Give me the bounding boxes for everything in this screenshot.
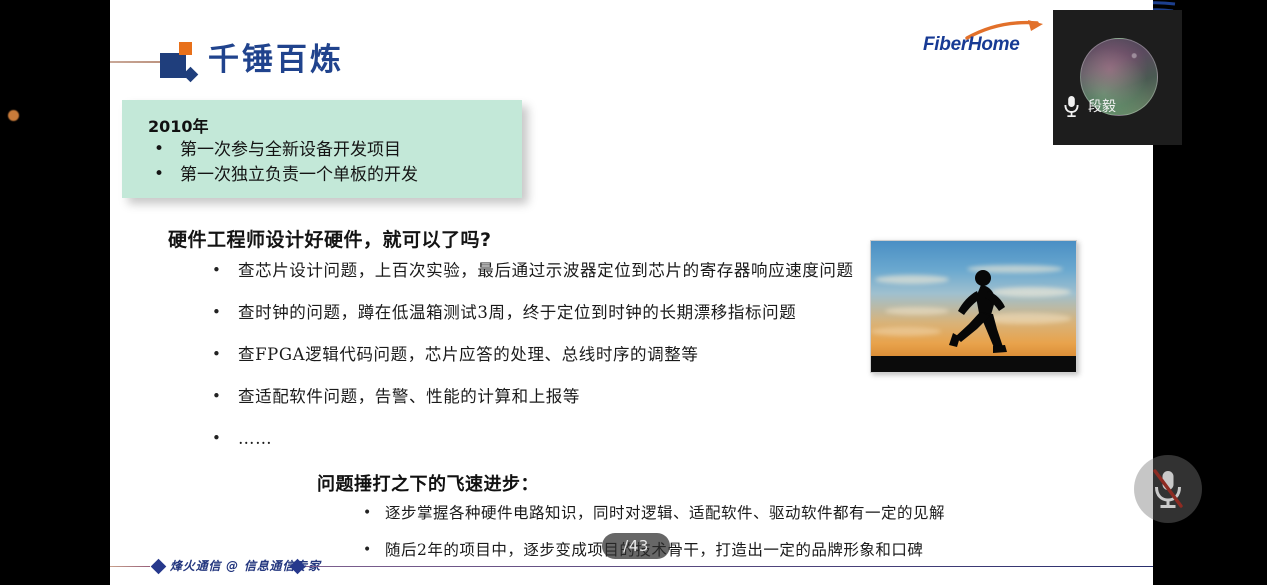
list-item: ……	[206, 424, 936, 453]
fiberhome-logo: FiberHome	[923, 22, 1043, 56]
list-item: 查芯片设计问题，上百次实验，最后通过示波器定位到芯片的寄存器响应速度问题	[206, 256, 936, 285]
microphone-icon	[1063, 95, 1080, 117]
footer-diamond-left-icon	[151, 559, 167, 575]
callout-list: 第一次参与全新设备开发项目 第一次独立负责一个单板的开发	[152, 138, 418, 188]
list-item: 查适配软件问题，告警、性能的计算和上报等	[206, 382, 936, 411]
presentation-slide: 千锤百炼 FiberHome 2010年 第一次参与全新设备开发项目 第一次独立…	[110, 0, 1153, 585]
list-item: 逐步掌握各种硬件电路知识，同时对逻辑、适配软件、驱动软件都有一定的见解	[355, 500, 1145, 527]
page-indicator-badge: /43	[602, 533, 670, 559]
participant-name: 段毅	[1088, 96, 1116, 116]
orange-dot-indicator	[8, 110, 19, 121]
main-bullet-list: 查芯片设计问题，上百次实验，最后通过示波器定位到芯片的寄存器响应速度问题 查时钟…	[206, 256, 936, 466]
body-heading: 硬件工程师设计好硬件，就可以了吗?	[168, 225, 492, 252]
runner-photo	[870, 240, 1077, 373]
mute-toggle-button[interactable]	[1134, 455, 1202, 523]
sub-heading: 问题捶打之下的飞速进步：	[317, 470, 539, 496]
list-item: 查FPGA逻辑代码问题，芯片应答的处理、总线时序的调整等	[206, 340, 936, 369]
meeting-screen-share-view: 千锤百炼 FiberHome 2010年 第一次参与全新设备开发项目 第一次独立…	[0, 0, 1267, 585]
list-item: 第一次独立负责一个单板的开发	[152, 163, 418, 188]
participant-video-tile[interactable]: 段毅	[1053, 10, 1182, 145]
microphone-muted-icon	[1152, 469, 1184, 509]
title-square-mark-icon	[155, 42, 197, 76]
participant-name-bar: 段毅	[1053, 89, 1182, 123]
callout-year: 2010年	[148, 113, 209, 137]
page-title: 千锤百炼	[208, 34, 344, 79]
list-item: 查时钟的问题，蹲在低温箱测试3周，终于定位到时钟的长期漂移指标问题	[206, 298, 936, 327]
page-indicator-text: /43	[623, 537, 649, 555]
runner-silhouette-icon	[933, 267, 1023, 359]
year-callout-box: 2010年 第一次参与全新设备开发项目 第一次独立负责一个单板的开发	[122, 100, 522, 198]
list-item: 第一次参与全新设备开发项目	[152, 138, 418, 163]
fiberhome-wordmark: FiberHome	[923, 34, 1020, 56]
